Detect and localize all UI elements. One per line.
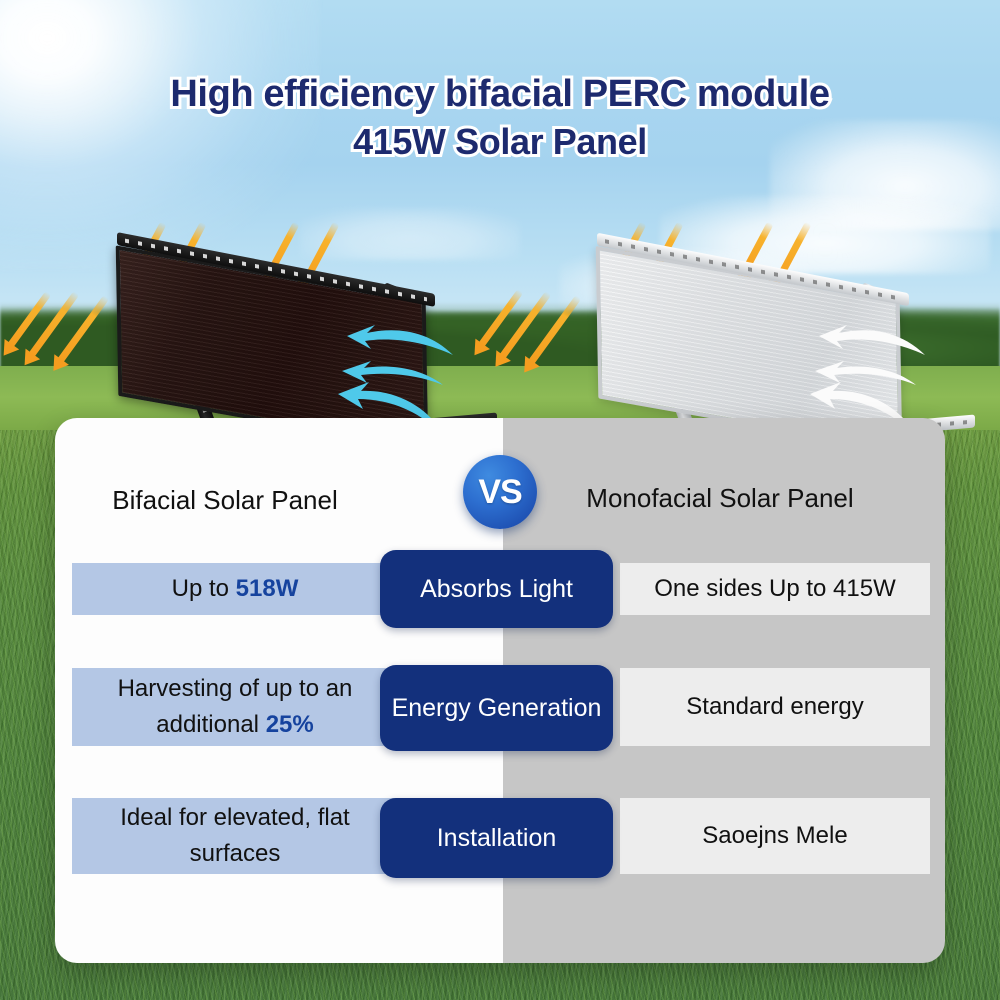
feature-pill-label-1: Absorbs Light — [420, 573, 573, 605]
feature-pill-label-3: Installation — [437, 822, 557, 854]
bifacial-column-heading: Bifacial Solar Panel — [55, 485, 395, 516]
feature-pill-label-2: Energy Generation — [392, 692, 602, 724]
right-value-row-3: Saoejns Mele — [620, 798, 930, 874]
left-value-prefix-3: Ideal for elevated, flat surfaces — [120, 804, 349, 867]
feature-pill-2: Energy Generation — [380, 665, 613, 751]
left-value-prefix-2: Harvesting of up to an additional — [118, 675, 353, 738]
feature-pill-3: Installation — [380, 798, 613, 878]
feature-pill-1: Absorbs Light — [380, 550, 613, 628]
reflected-light-arrow — [345, 325, 455, 361]
right-value-row-1: One sides Up to 415W — [620, 563, 930, 615]
left-value-row-3: Ideal for elevated, flat surfaces — [72, 798, 402, 874]
right-value-row-2: Standard energy — [620, 668, 930, 746]
right-value-text-3: Saoejns Mele — [702, 819, 847, 853]
title-line-1: High efficiency bifacial PERC module — [0, 70, 1000, 118]
left-value-row-2: Harvesting of up to an additional 25% — [72, 668, 402, 746]
left-value-row-1: Up to 518W — [72, 563, 402, 615]
left-value-prefix-1: Up to — [172, 575, 236, 602]
right-value-text-1: One sides Up to 415W — [654, 572, 895, 606]
vs-badge-label: VS — [478, 473, 521, 512]
title-line-2: 415W Solar Panel — [0, 118, 1000, 166]
page-title: High efficiency bifacial PERC module 415… — [0, 70, 1000, 166]
infographic-canvas: High efficiency bifacial PERC module 415… — [0, 0, 1000, 1000]
right-value-text-2: Standard energy — [686, 690, 863, 724]
vs-badge: VS — [463, 455, 537, 529]
monofacial-column-heading: Monofacial Solar Panel — [530, 483, 910, 514]
reflected-light-arrow — [817, 325, 927, 361]
left-value-highlight-1: 518W — [236, 575, 299, 602]
left-value-highlight-2: 25% — [266, 711, 314, 738]
